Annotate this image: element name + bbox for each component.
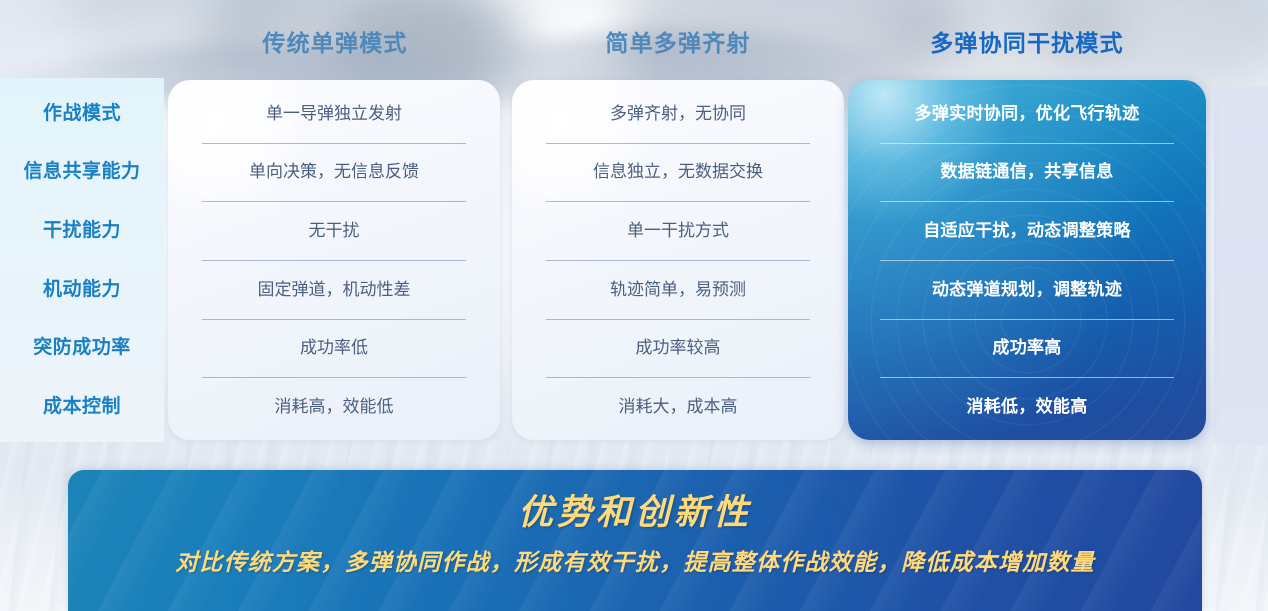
table-cell: 消耗高，效能低 xyxy=(190,377,478,436)
banner-subtitle: 对比传统方案，多弹协同作战，形成有效干扰，提高整体作战效能，降低成本增加数量 xyxy=(175,543,1095,577)
row-label-maneuverability: 机动能力 xyxy=(43,280,121,299)
table-cell: 多弹齐射，无协同 xyxy=(534,84,822,143)
row-label-column: 作战模式 信息共享能力 干扰能力 机动能力 突防成功率 成本控制 xyxy=(0,78,164,442)
table-cell: 单一导弹独立发射 xyxy=(190,84,478,143)
table-cell: 单一干扰方式 xyxy=(534,201,822,260)
column-card-simple-salvo: 多弹齐射，无协同 信息独立，无数据交换 单一干扰方式 轨迹简单，易预测 成功率较… xyxy=(512,80,844,440)
table-cell: 固定弹道，机动性差 xyxy=(190,260,478,319)
row-label-info-sharing: 信息共享能力 xyxy=(23,162,140,181)
table-cell: 多弹实时协同，优化飞行轨迹 xyxy=(866,84,1188,143)
table-cell: 单向决策，无信息反馈 xyxy=(190,143,478,202)
banner-title: 优势和创新性 xyxy=(518,494,752,533)
column-card-cooperative-jamming: 多弹实时协同，优化飞行轨迹 数据链通信，共享信息 自适应干扰，动态调整策略 动态… xyxy=(848,80,1206,440)
row-label-cost-control: 成本控制 xyxy=(43,397,121,416)
table-cell: 成功率较高 xyxy=(534,319,822,378)
column-card-traditional: 单一导弹独立发射 单向决策，无信息反馈 无干扰 固定弹道，机动性差 成功率低 消… xyxy=(168,80,500,440)
table-cell: 信息独立，无数据交换 xyxy=(534,143,822,202)
table-cell: 动态弹道规划，调整轨迹 xyxy=(866,260,1188,319)
row-label-penetration-rate: 突防成功率 xyxy=(33,338,131,357)
table-cell: 成功率高 xyxy=(866,319,1188,378)
table-cell: 轨迹简单，易预测 xyxy=(534,260,822,319)
row-label-combat-mode: 作战模式 xyxy=(43,104,121,123)
row-label-jamming: 干扰能力 xyxy=(43,221,121,240)
table-cell: 自适应干扰，动态调整策略 xyxy=(866,201,1188,260)
column-header-cooperative-jamming: 多弹协同干扰模式 xyxy=(848,32,1206,55)
comparison-table: 传统单弹模式 简单多弹齐射 多弹协同干扰模式 作战模式 信息共享能力 干扰能力 … xyxy=(0,0,1268,455)
table-cell: 消耗大，成本高 xyxy=(534,377,822,436)
slide-canvas: 传统单弹模式 简单多弹齐射 多弹协同干扰模式 作战模式 信息共享能力 干扰能力 … xyxy=(0,0,1268,611)
table-cell: 数据链通信，共享信息 xyxy=(866,143,1188,202)
advantages-banner: 优势和创新性 对比传统方案，多弹协同作战，形成有效干扰，提高整体作战效能，降低成… xyxy=(68,470,1202,611)
banner-content: 优势和创新性 对比传统方案，多弹协同作战，形成有效干扰，提高整体作战效能，降低成… xyxy=(68,470,1202,577)
column-header-simple-salvo: 简单多弹齐射 xyxy=(513,32,843,55)
table-cell: 消耗低，效能高 xyxy=(866,377,1188,436)
table-cell: 无干扰 xyxy=(190,201,478,260)
table-cell: 成功率低 xyxy=(190,319,478,378)
column-header-traditional: 传统单弹模式 xyxy=(170,32,500,55)
